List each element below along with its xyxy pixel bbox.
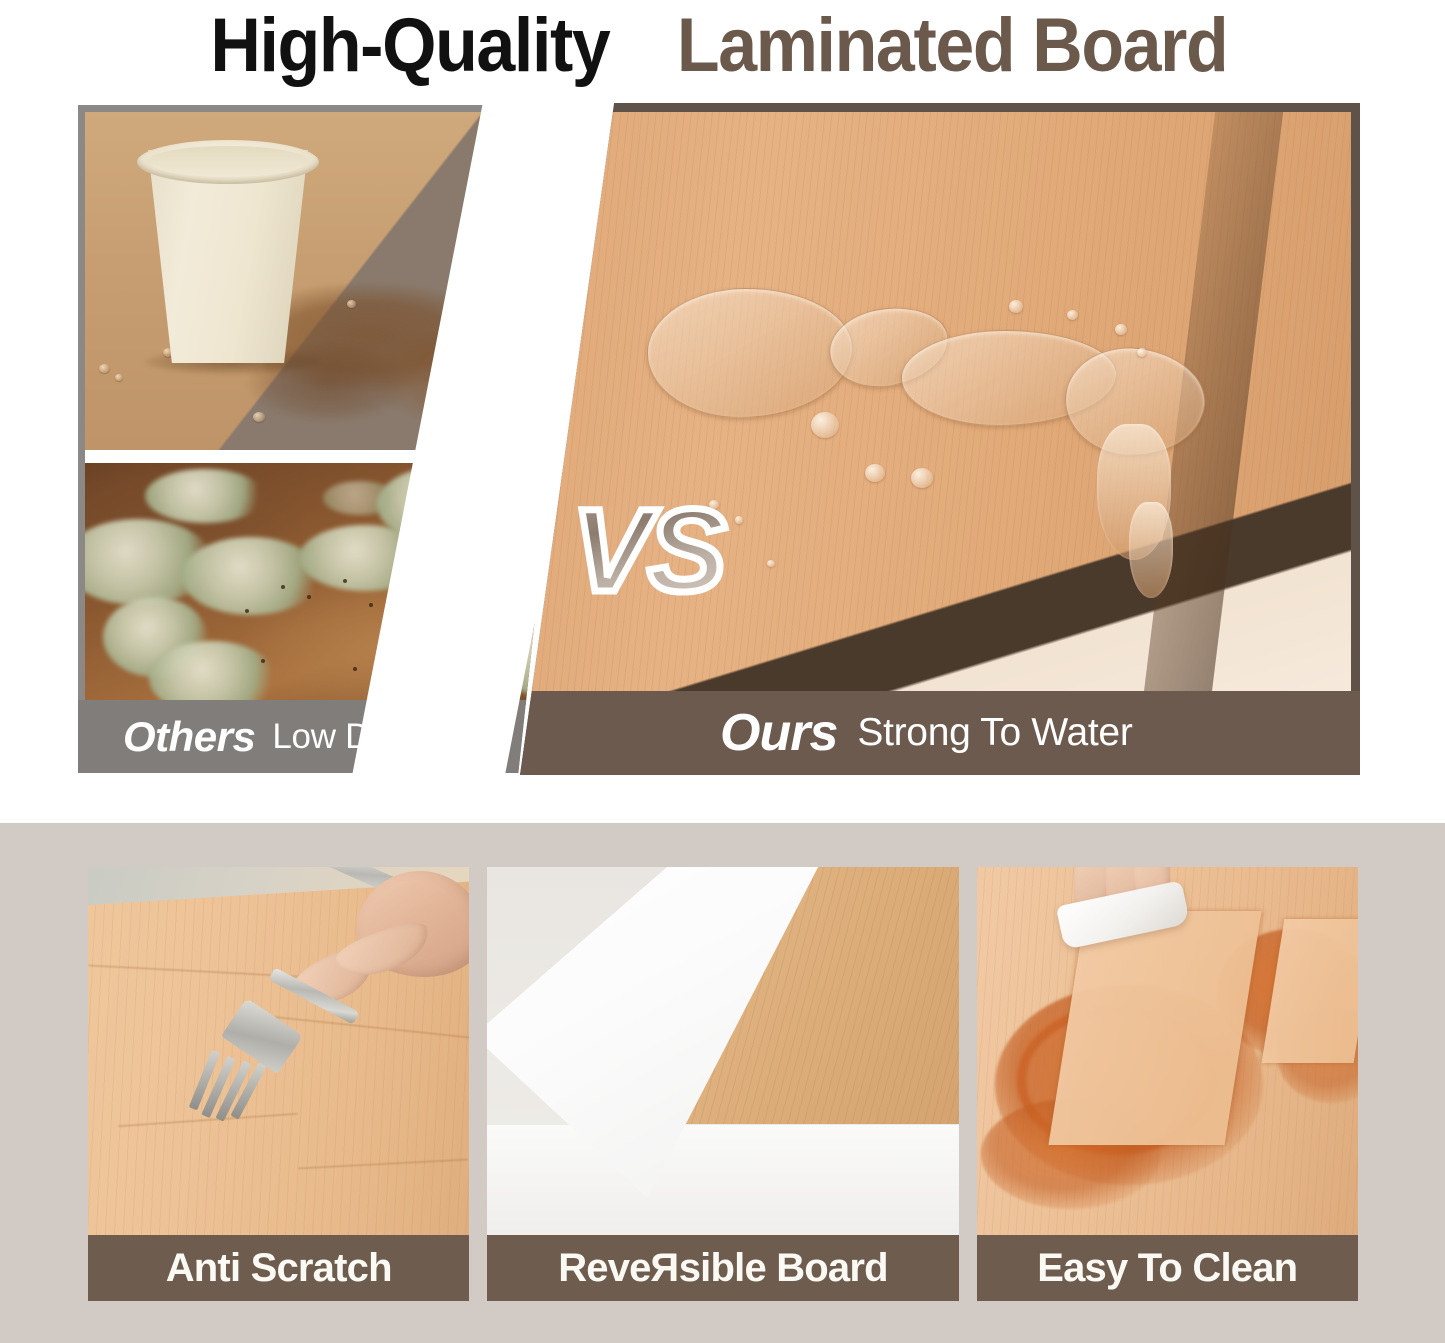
mold-speck: [261, 659, 265, 663]
photo-reversible-panel: [487, 867, 958, 1235]
ours-label: Ours: [720, 703, 837, 763]
lower-white-panel: [487, 1125, 958, 1235]
feature-label-reversible: ReveRsible Board: [558, 1246, 888, 1291]
features-section: Anti Scratch ReveRsible Board: [0, 823, 1445, 1343]
label-after: sible Board: [679, 1246, 888, 1290]
water-droplet: [1009, 300, 1023, 313]
water-droplet: [735, 516, 743, 524]
feature-card-easy-to-clean: Easy To Clean: [977, 867, 1358, 1301]
ours-caption-bar: Ours Strong To Water: [520, 691, 1360, 775]
droplet: [115, 374, 123, 381]
mirrored-r-glyph: R: [651, 1246, 679, 1291]
feature-card-anti-scratch: Anti Scratch: [88, 867, 469, 1301]
water-puddle: [647, 288, 853, 418]
water-droplet: [865, 464, 885, 482]
mold-speck: [245, 609, 249, 613]
water-droplet: [1115, 324, 1127, 335]
mold-patch: [181, 537, 321, 615]
label-before: Reve: [558, 1246, 650, 1290]
page-title: High-Quality Laminated Board: [0, 0, 1445, 92]
mold-speck: [369, 603, 373, 607]
title-part-high-quality: High-Quality: [211, 8, 610, 84]
water-droplet: [1137, 348, 1147, 357]
mold-patch: [149, 641, 275, 707]
droplet: [99, 364, 110, 373]
water-runoff: [1129, 502, 1173, 598]
mold-speck: [281, 585, 285, 589]
water-droplet: [767, 560, 775, 567]
water-droplet: [911, 468, 933, 488]
droplet: [253, 412, 265, 422]
infographic-root: High-Quality Laminated Board: [0, 0, 1445, 1343]
title-part-laminated-board: Laminated Board: [677, 8, 1227, 84]
feature-card-reversible-board: ReveRsible Board: [487, 867, 958, 1301]
photo-wipe-clean-test: [977, 867, 1358, 1235]
others-label: Others: [123, 713, 255, 761]
photo-fork-scratch-test: [88, 867, 469, 1235]
water-droplet: [811, 412, 839, 438]
mold-speck: [343, 579, 347, 583]
features-card-row: Anti Scratch ReveRsible Board: [88, 867, 1358, 1301]
mold-speck: [353, 667, 357, 671]
mold-patch: [145, 469, 265, 523]
vs-badge: VS: [572, 492, 723, 610]
droplet: [347, 300, 356, 308]
water-droplet: [1067, 310, 1078, 320]
feature-caption-bar: Easy To Clean: [977, 1235, 1358, 1301]
mold-patch: [323, 481, 397, 515]
ours-panel: Ours Strong To Water: [520, 103, 1360, 775]
cup-interior: [147, 146, 309, 177]
feature-caption-bar: ReveRsible Board: [487, 1235, 958, 1301]
feature-label: Anti Scratch: [166, 1246, 392, 1291]
ours-claim: Strong To Water: [857, 711, 1132, 755]
feature-caption-bar: Anti Scratch: [88, 1235, 469, 1301]
mold-speck: [307, 595, 311, 599]
feature-label: Easy To Clean: [1037, 1246, 1297, 1291]
comparison-section: Others Low Durability: [0, 96, 1445, 796]
